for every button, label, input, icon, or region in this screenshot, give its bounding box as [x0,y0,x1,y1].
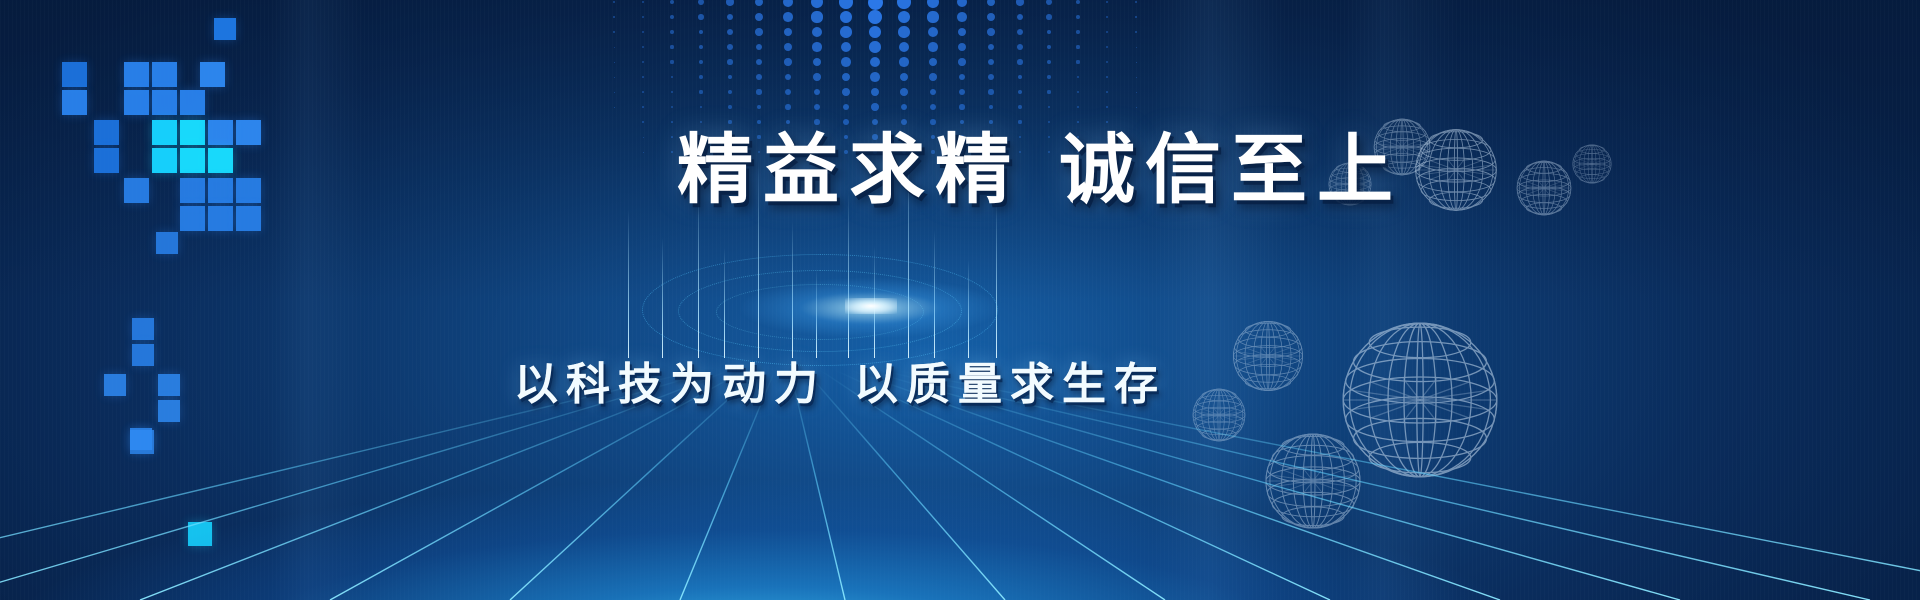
halftone-dot [613,1,614,2]
halftone-dot [1135,31,1136,32]
halftone-dot [670,30,674,34]
halftone-dot [727,59,732,64]
halftone-dot [1047,30,1052,35]
halftone-dot [868,10,882,24]
halftone-dot [1106,91,1108,93]
halftone-dot [642,46,644,48]
halftone-dot [987,0,996,6]
halftone-dot [897,0,910,9]
halftone-dot [900,73,909,82]
subheadline-part-2: 以质量求生存 [854,359,1166,410]
halftone-dot [642,31,644,33]
halftone-dot [1076,15,1080,19]
halftone-dot [812,42,821,51]
halftone-dot [699,60,703,64]
subheadline-part-1: 以科技为动力 [514,359,826,410]
halftone-dot [727,44,733,50]
mosaic-square [124,62,149,87]
halftone-dot [869,26,882,39]
halftone-dot [1047,90,1050,93]
halftone-dot [1136,47,1137,48]
halftone-dot [900,88,908,96]
halftone-dot [840,26,852,38]
halftone-dot [1135,16,1136,17]
halftone-dot [784,28,793,37]
mosaic-square [214,18,236,40]
mosaic-square [152,62,177,87]
halftone-dot [614,62,615,63]
halftone-dot [842,73,851,82]
halftone-dot [727,29,733,35]
halftone-dot [1135,1,1136,2]
halftone-dot [1106,1,1109,4]
halftone-dot [840,11,853,24]
halftone-dot [958,28,967,37]
halftone-dot [1046,0,1052,5]
halftone-dot [614,77,615,78]
halftone-dot [1076,0,1080,4]
halftone-dot [811,11,822,22]
halftone-dot [784,58,791,65]
halftone-dot [841,42,852,53]
halftone-dot [1106,46,1108,48]
halftone-dot [988,89,993,94]
halftone-dot [871,88,880,97]
halftone-dot [785,89,791,95]
halftone-dot [698,0,704,5]
halftone-dot [670,0,674,4]
halftone-dot [814,89,821,96]
halftone-dot [1076,60,1079,63]
halftone-dot [783,12,793,22]
halftone-dot [928,42,937,51]
halftone-dot [1106,31,1108,33]
halftone-dot [958,43,966,51]
halftone-dot [870,72,880,82]
halftone-dot [1047,45,1052,50]
halftone-dot [958,58,965,65]
halftone-dot [670,45,673,48]
banner-headline: 精益求精诚信至上 [80,108,1920,218]
halftone-dot [930,89,937,96]
halftone-dot [1017,14,1024,21]
headline-part-2: 诚信至上 [1059,125,1403,214]
halftone-dot [642,76,644,78]
halftone-dot [1106,16,1109,19]
halftone-dot [755,0,764,6]
halftone-dot [1136,92,1137,93]
halftone-dot [642,91,644,93]
halftone-dot [756,44,763,51]
halftone-dot [671,76,674,79]
headline-part-1: 精益求精 [677,125,1021,214]
halftone-dot [670,60,673,63]
halftone-dot [727,14,734,21]
halftone-dot [929,58,938,67]
halftone-dot [959,74,966,81]
banner-subheadline: 以科技为动力以质量求生存 [0,348,1800,412]
halftone-dot [927,11,938,22]
halftone-dot [614,92,615,93]
halftone-dot [783,0,793,7]
halftone-dot [1047,60,1051,64]
halftone-dot [869,41,881,53]
halftone-dot [613,31,614,32]
halftone-dot [1077,76,1080,79]
halftone-dot [728,75,733,80]
halftone-dot [1076,30,1080,34]
halftone-dot [957,12,967,22]
halftone-dot [755,13,763,21]
halftone-dot [898,11,911,24]
halftone-dot [811,0,823,8]
halftone-dot [699,30,704,35]
halftone-dot [929,73,937,81]
halftone-dot [1017,29,1023,35]
halftone-dot [839,0,852,9]
halftone-dot [1047,75,1051,79]
halftone-dot [670,15,674,19]
halftone-dot [642,61,644,63]
halftone-dot [671,91,673,93]
halftone-dot [1136,77,1137,78]
halftone-dot [813,58,822,67]
halftone-dot [728,90,732,94]
mosaic-square [62,62,87,87]
halftone-dot [726,0,733,6]
halftone-dot [927,0,939,8]
halftone-dot [614,47,615,48]
halftone-dot [868,0,883,10]
halftone-dot [699,90,702,93]
halftone-dot [899,42,910,53]
halftone-dot [1016,0,1023,6]
halftone-dot [957,0,967,7]
halftone-dot [1046,14,1051,19]
halftone-dot [813,73,821,81]
halftone-dot [1018,75,1023,80]
halftone-dot [928,27,938,37]
halftone-dot [1017,44,1023,50]
halftone-dot [756,74,762,80]
halftone-dot [756,59,762,65]
halftone-dot [988,59,994,65]
halftone-dot [1106,76,1108,78]
hero-banner: 精益求精诚信至上 以科技为动力以质量求生存 [0,0,1920,600]
halftone-dot [756,89,761,94]
halftone-dot [1077,91,1079,93]
halftone-dot [987,13,995,21]
halftone-dot [613,16,614,17]
halftone-dot [1017,59,1022,64]
halftone-dot [699,45,704,50]
halftone-dot [1076,45,1079,48]
mosaic-square [156,232,178,254]
halftone-dot [642,1,645,4]
core-hotspot [845,298,897,314]
mosaic-square [200,62,225,87]
halftone-dot [988,44,995,51]
halftone-dot [1136,62,1137,63]
halftone-dot [899,57,909,67]
mosaic-square [132,318,154,340]
halftone-dot [959,89,965,95]
halftone-dot [1018,90,1022,94]
halftone-dot [1106,61,1108,63]
halftone-dot [755,28,763,36]
halftone-dot [642,16,645,19]
halftone-dot [785,74,792,81]
halftone-dot [842,88,850,96]
halftone-dot [987,28,995,36]
halftone-dot [870,57,881,68]
halftone-dot [841,57,851,67]
halftone-dot [898,26,910,38]
halftone-dot [812,27,822,37]
halftone-dot [988,74,994,80]
halftone-dot [784,43,792,51]
halftone-dot [698,14,703,19]
halftone-dot [699,75,703,79]
